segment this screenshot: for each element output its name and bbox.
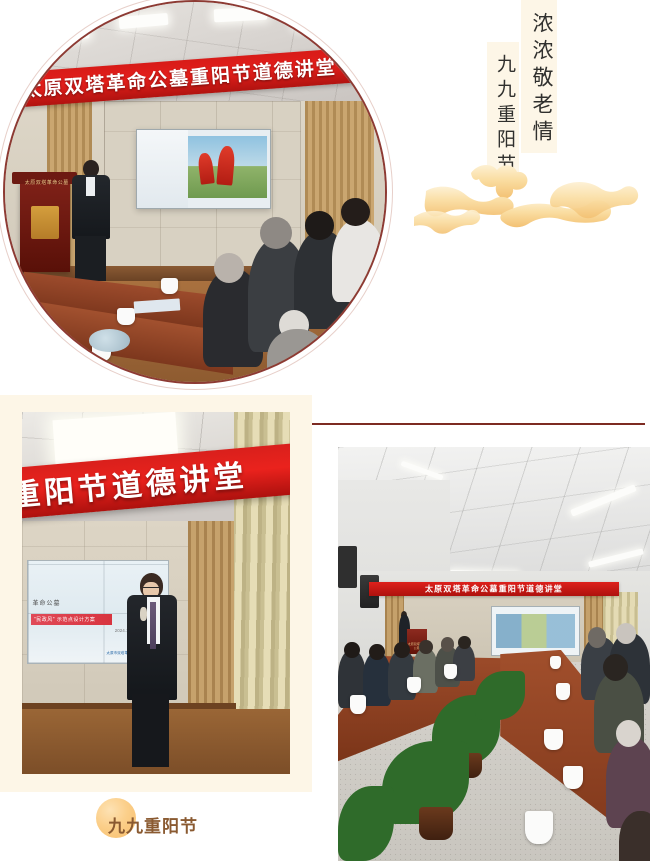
audience-left-head-1 <box>344 642 360 659</box>
speaker-legs <box>132 694 170 766</box>
audience-person-5 <box>267 329 328 382</box>
tea-cup-5 <box>544 729 563 751</box>
tea-cup-7 <box>525 811 553 844</box>
audience-left-head-5 <box>441 637 454 651</box>
monument-left <box>197 152 214 185</box>
audience-right-head-1 <box>588 627 607 648</box>
auspicious-cloud-decoration <box>408 155 646 245</box>
screen-photo-collage <box>496 614 575 648</box>
presentation-screen <box>491 606 580 656</box>
audience-head-3 <box>305 211 334 240</box>
section-divider <box>300 423 645 425</box>
left-photo-frame: 重阳节道德讲堂 革命公墓 "民政风" 示范点设计方案 2024.10 太原市双塔… <box>0 395 312 792</box>
monument-right <box>216 145 235 185</box>
audience-person-4 <box>332 219 385 303</box>
audience-right-head-3 <box>603 654 628 681</box>
screen-right-photo <box>188 136 268 198</box>
microphone <box>140 607 147 620</box>
red-banner: 太原双塔革命公墓重阳节道德讲堂 <box>369 582 619 597</box>
ceiling-light-3 <box>214 6 268 22</box>
audience-left-6 <box>453 644 475 681</box>
tea-cup-3 <box>444 664 456 679</box>
poster-canvas: 太原双塔革命公墓重阳节道德讲堂 太原双塔革命公墓 <box>0 0 650 861</box>
speaker-tie <box>150 602 156 649</box>
slide-subtitle: "民政风" 示范点设计方案 <box>34 616 95 623</box>
tea-cup-4 <box>556 683 570 700</box>
audience-left-head-3 <box>394 642 410 659</box>
slide-title: 革命公墓 <box>33 598 61 607</box>
presentation-screen <box>136 129 271 209</box>
circle-photo-conference-hall: 太原双塔革命公墓重阳节道德讲堂 太原双塔革命公墓 <box>5 2 385 382</box>
audience-left-head-6 <box>458 636 470 649</box>
audience-head-4 <box>341 198 370 227</box>
folded-hat <box>89 329 131 352</box>
wood-slats <box>188 521 236 709</box>
audience-right-head-4 <box>616 720 641 747</box>
ceiling-light-4 <box>294 17 344 30</box>
tea-cup-1 <box>350 695 366 714</box>
caption-text: 九九重阳节 <box>108 812 198 837</box>
tea-cup-2 <box>407 677 421 694</box>
circle-photo-scene: 太原双塔革命公墓重阳节道德讲堂 太原双塔革命公墓 <box>5 2 385 382</box>
vertical-title-right: 浓浓敬老情 <box>521 0 557 153</box>
podium-label: 太原双塔革命公墓 <box>16 179 77 221</box>
speaker-legs <box>75 236 105 282</box>
tea-cup-1 <box>161 278 178 295</box>
wall-speaker-left <box>338 546 357 587</box>
audience-left-head-2 <box>369 644 385 661</box>
tea-cup-2 <box>117 308 134 325</box>
right-photo-audience: 太原双塔革命公墓重阳节道德讲堂 太原双塔革命公墓 <box>338 447 650 861</box>
left-photo-caption: 九九重阳节 <box>20 798 292 854</box>
audience-head-2 <box>260 217 292 249</box>
red-banner-text: 太原双塔革命公墓重阳节道德讲堂 <box>425 583 563 594</box>
tea-cup-6 <box>563 766 583 789</box>
speaker-glasses <box>143 587 160 592</box>
potted-plant-2-pot <box>419 807 453 840</box>
screen-left-slide <box>137 130 188 208</box>
left-photo-speaker: 重阳节道德讲堂 革命公墓 "民政风" 示范点设计方案 2024.10 太原市双塔… <box>22 412 290 774</box>
speaker-shirt <box>86 177 95 196</box>
